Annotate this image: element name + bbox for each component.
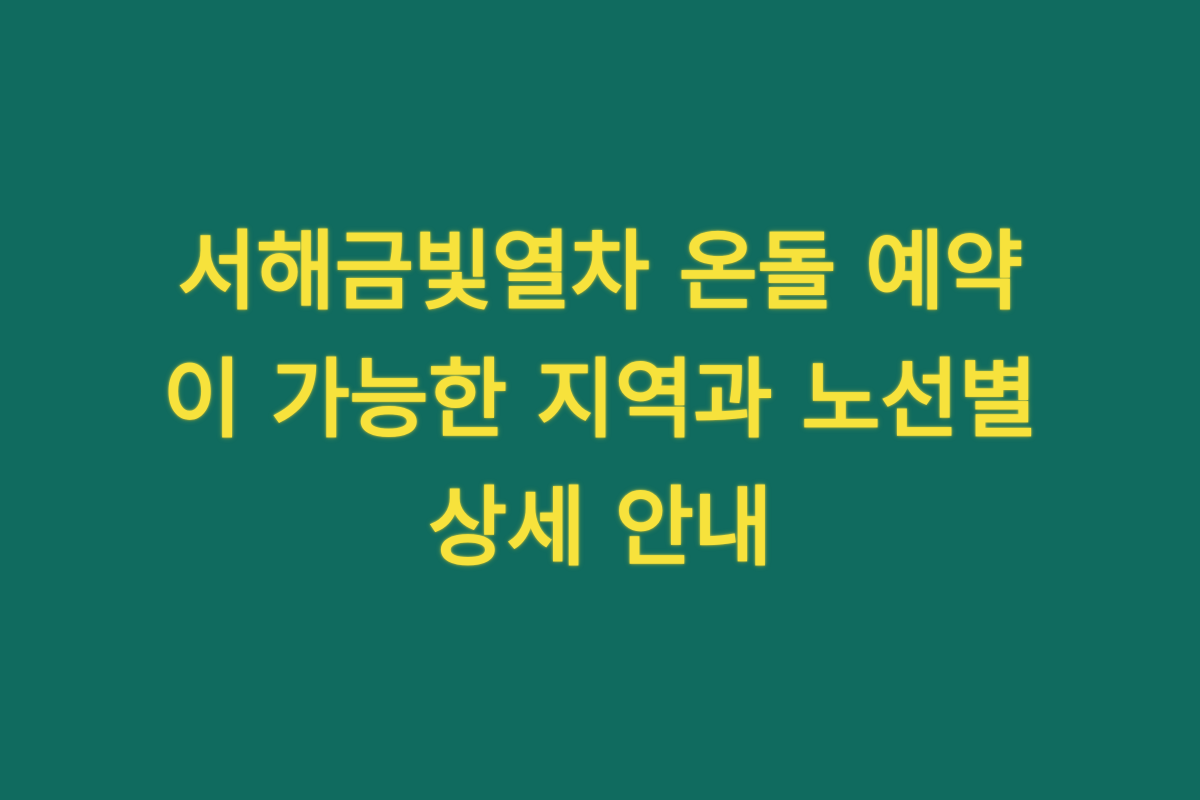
headline-line-3: 상세 안내 xyxy=(88,464,1112,592)
headline-line-1: 서해금빛열차 온돌 예약 xyxy=(88,208,1112,336)
headline-line-2: 이 가능한 지역과 노선별 xyxy=(88,336,1112,464)
page-title: 서해금빛열차 온돌 예약 이 가능한 지역과 노선별 상세 안내 xyxy=(88,208,1112,592)
banner-canvas: 서해금빛열차 온돌 예약 이 가능한 지역과 노선별 상세 안내 xyxy=(0,0,1200,800)
